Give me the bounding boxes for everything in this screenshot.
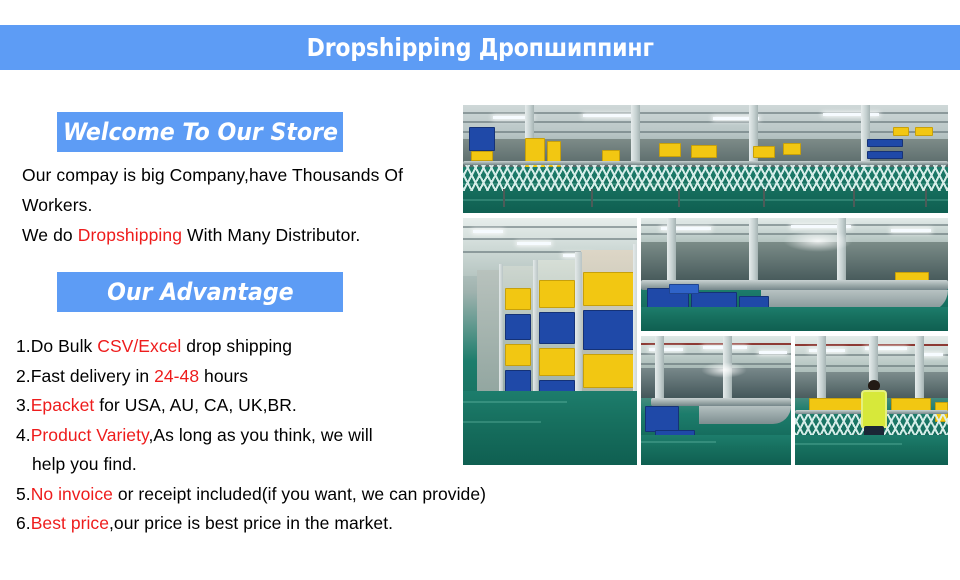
- item-highlight: 24-48: [154, 366, 199, 386]
- warehouse-panorama-conveyors-photo: [463, 105, 948, 213]
- welcome-heading-label: Welcome To Our Store: [62, 118, 337, 146]
- item-highlight: Epacket: [31, 395, 95, 415]
- item-number: 4.: [16, 425, 31, 445]
- sorting-line-workers-photo: [641, 218, 948, 331]
- list-item: 6.Best price,our price is best price in …: [16, 509, 576, 539]
- dropshipping-text-before: We do: [22, 225, 78, 245]
- item-number: 1.: [16, 336, 31, 356]
- intro-paragraph: Our compay is big Company,have Thousands…: [22, 160, 462, 220]
- item-number: 3.: [16, 395, 31, 415]
- item-text-after: drop shipping: [181, 336, 292, 356]
- advantage-section-heading: Our Advantage: [57, 272, 343, 312]
- dropshipping-info-banner: Dropshipping Дропшиппинг Welcome To Our …: [0, 0, 960, 580]
- warehouse-storage-racking-photo: [463, 218, 637, 465]
- item-number: 5.: [16, 484, 31, 504]
- item-highlight: No invoice: [31, 484, 113, 504]
- item-number: 2.: [16, 366, 31, 386]
- warehouse-photo-collage: [463, 105, 948, 465]
- page-title: Dropshipping Дропшиппинг: [306, 33, 653, 62]
- item-highlight: Product Variety: [31, 425, 149, 445]
- item-highlight: Best price: [31, 513, 109, 533]
- dropshipping-highlight: Dropshipping: [78, 225, 182, 245]
- item-text-after: hours: [199, 366, 248, 386]
- dropshipping-text-after: With Many Distributor.: [182, 225, 360, 245]
- list-item: 5.No invoice or receipt included(if you …: [16, 480, 576, 510]
- item-text-after: for USA, AU, CA, UK,BR.: [94, 395, 297, 415]
- dropshipping-paragraph: We do Dropshipping With Many Distributor…: [22, 220, 462, 250]
- packing-line-workers-photo: [641, 336, 791, 465]
- item-highlight: CSV/Excel: [97, 336, 181, 356]
- advantage-heading-label: Our Advantage: [107, 278, 294, 306]
- welcome-section-heading: Welcome To Our Store: [57, 112, 343, 152]
- left-content-column: Welcome To Our Store Our compay is big C…: [0, 92, 462, 562]
- item-number: 6.: [16, 513, 31, 533]
- page-title-banner: Dropshipping Дропшиппинг: [0, 25, 960, 70]
- item-text-before: Do Bulk: [31, 336, 98, 356]
- item-text-after: ,our price is best price in the market.: [109, 513, 393, 533]
- item-text-after: ,As long as you think, we will: [149, 425, 373, 445]
- item-text-after: or receipt included(if you want, we can …: [113, 484, 486, 504]
- item-text-before: Fast delivery in: [31, 366, 154, 386]
- worker-at-expandable-conveyor-photo: [795, 336, 948, 465]
